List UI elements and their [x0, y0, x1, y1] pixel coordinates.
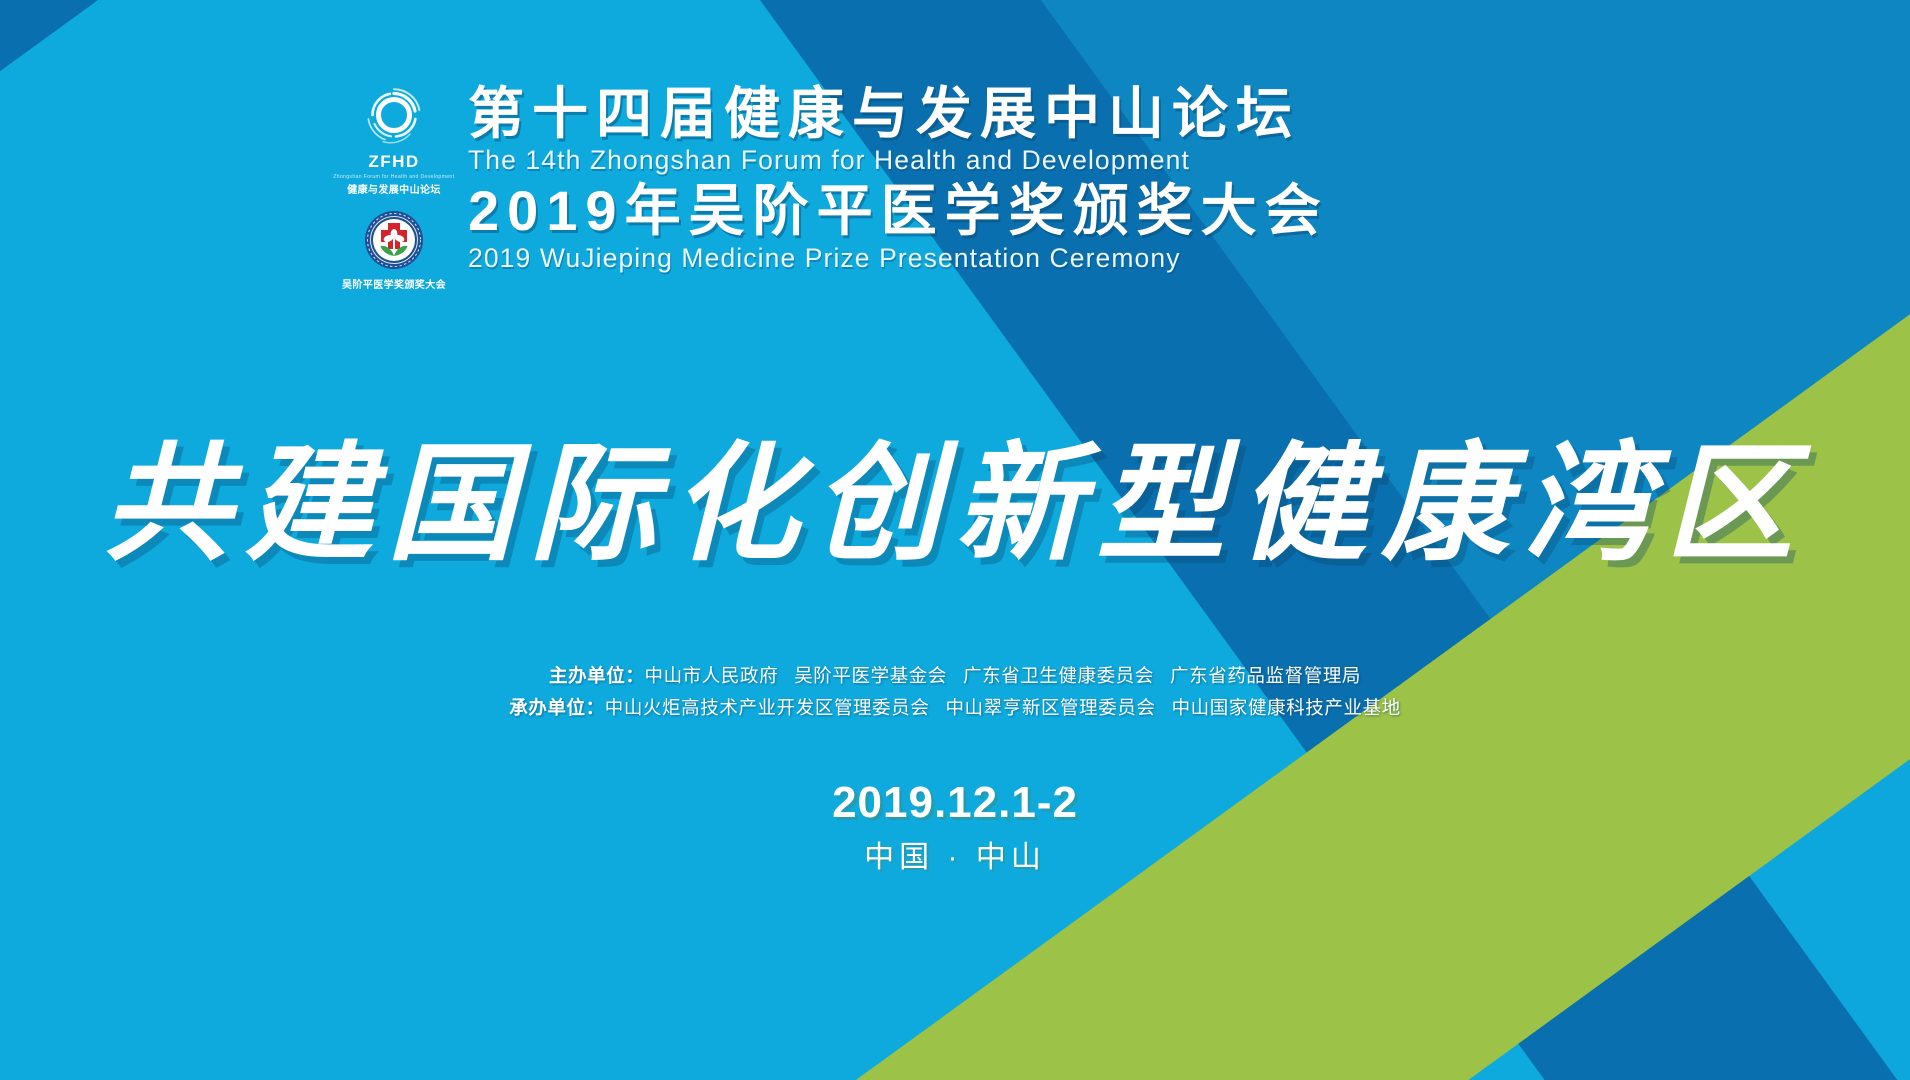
title-cn-forum: 第十四届健康与发展中山论坛 [468, 84, 1329, 143]
organizer-coorganizer-item: 中山国家健康科技产业基地 [1172, 697, 1401, 718]
banner-header: ZFHD Zhongshan Forum for Health and Deve… [338, 82, 1329, 291]
title-en-ceremony: 2019 WuJieping Medicine Prize Presentati… [468, 242, 1329, 275]
logo-wujieping: 吴阶平医学奖颁奖大会 [342, 210, 446, 291]
organizer-label-host: 主办单位： [549, 665, 645, 686]
logo-column: ZFHD Zhongshan Forum for Health and Deve… [338, 82, 450, 291]
organizer-line-coorganizer: 承办单位：中山火炬高技术产业开发区管理委员会中山翠亨新区管理委员会中山国家健康科… [0, 692, 1910, 724]
organizer-coorganizer-item: 中山翠亨新区管理委员会 [945, 697, 1155, 718]
organizer-host-item: 中山市人民政府 [644, 665, 778, 686]
logo-zfhd: ZFHD Zhongshan Forum for Health and Deve… [330, 86, 458, 196]
zfhd-ring-logo-icon [363, 86, 425, 151]
wujieping-medical-emblem-logo-icon [364, 210, 424, 275]
wujieping-caption-cn: 吴阶平医学奖颁奖大会 [342, 276, 446, 291]
headline-slogan: 共建国际化创新型健康湾区 [0, 400, 1910, 585]
organizer-host-item: 广东省卫生健康委员会 [963, 665, 1154, 686]
organizer-label-coorganizer: 承办单位： [509, 697, 605, 718]
zfhd-wordmark: ZFHD [368, 152, 419, 172]
title-block: 第十四届健康与发展中山论坛 The 14th Zhongshan Forum f… [468, 82, 1329, 279]
event-place: 中国 · 中山 [0, 832, 1910, 876]
organizer-credits: 主办单位：中山市人民政府吴阶平医学基金会广东省卫生健康委员会广东省药品监督管理局… [0, 660, 1910, 725]
conference-banner: ZFHD Zhongshan Forum for Health and Deve… [0, 0, 1910, 1080]
organizer-coorganizer-item: 中山火炬高技术产业开发区管理委员会 [605, 697, 930, 718]
title-cn-ceremony: 2019年吴阶平医学奖颁奖大会 [468, 181, 1329, 240]
zfhd-caption-en: Zhongshan Forum for Health and Developme… [333, 174, 454, 180]
zfhd-caption-cn: 健康与发展中山论坛 [347, 181, 441, 196]
title-en-forum: The 14th Zhongshan Forum for Health and … [468, 144, 1329, 177]
organizer-line-host: 主办单位：中山市人民政府吴阶平医学基金会广东省卫生健康委员会广东省药品监督管理局 [0, 660, 1910, 692]
organizer-host-item: 吴阶平医学基金会 [794, 665, 947, 686]
organizer-host-item: 广东省药品监督管理局 [1170, 665, 1361, 686]
event-date-location: 2019.12.1-2 中国 · 中山 [0, 778, 1910, 876]
event-date: 2019.12.1-2 [0, 778, 1910, 828]
